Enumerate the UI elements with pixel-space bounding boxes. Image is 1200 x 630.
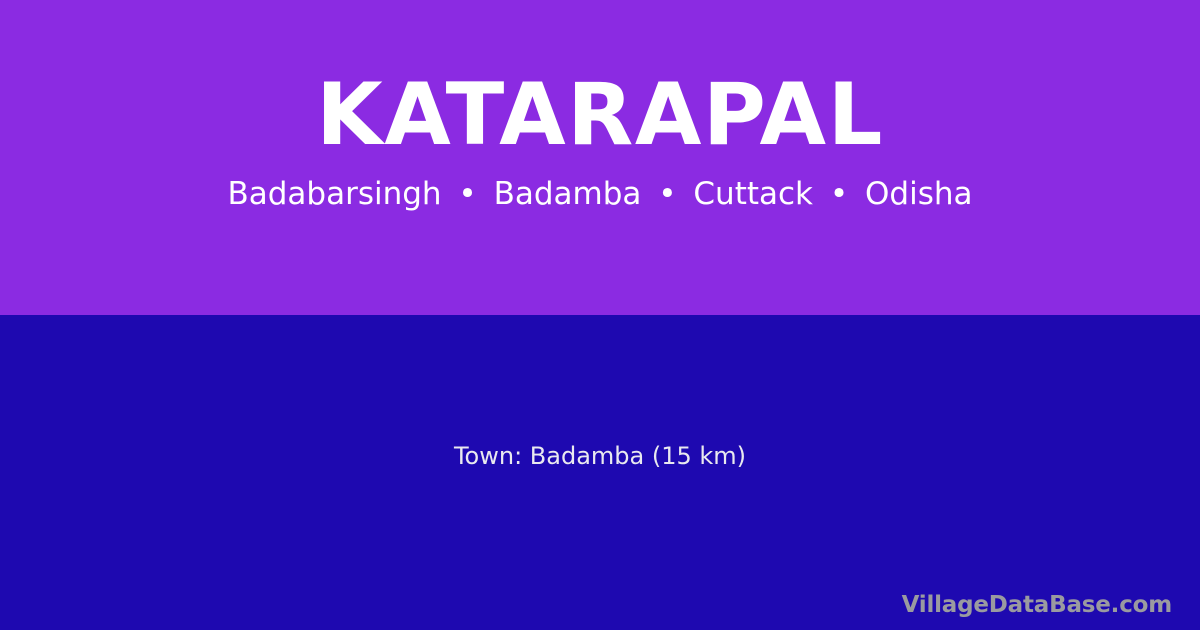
breadcrumb-separator: •	[651, 176, 683, 212]
village-info-card: KATARAPAL Badabarsingh • Badamba • Cutta…	[0, 0, 1200, 630]
nearest-town-text: Town: Badamba (15 km)	[0, 442, 1200, 471]
breadcrumb-item-village: Badabarsingh	[227, 176, 441, 212]
breadcrumb-item-district: Cuttack	[693, 176, 813, 212]
breadcrumb-separator: •	[451, 176, 483, 212]
breadcrumb-separator: •	[823, 176, 855, 212]
site-watermark: VillageDataBase.com	[902, 592, 1172, 620]
hero-banner: KATARAPAL Badabarsingh • Badamba • Cutta…	[0, 0, 1200, 315]
breadcrumb-item-block: Badamba	[494, 176, 642, 212]
detail-panel: Town: Badamba (15 km) VillageDataBase.co…	[0, 315, 1200, 630]
breadcrumb: Badabarsingh • Badamba • Cuttack • Odish…	[227, 176, 972, 213]
page-title: KATARAPAL	[316, 72, 884, 158]
breadcrumb-item-state: Odisha	[865, 176, 973, 212]
